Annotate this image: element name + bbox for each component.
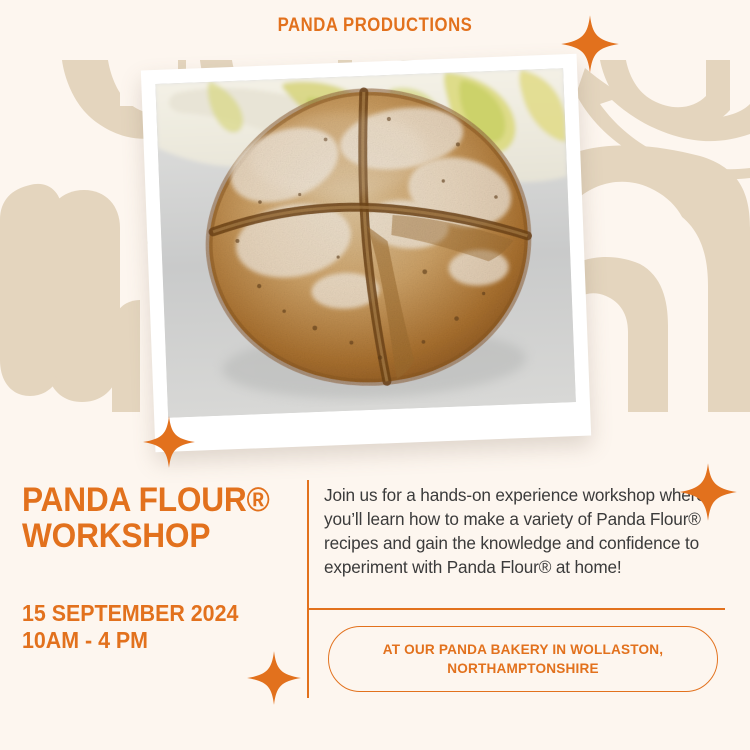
- page-title: PANDA PRODUCTIONS: [45, 15, 705, 37]
- sparkle-icon: [142, 415, 196, 469]
- headline: PANDA FLOUR® WORKSHOP: [22, 482, 273, 554]
- sparkle-icon: [678, 462, 738, 522]
- event-datetime: 15 SEPTEMBER 2024 10AM - 4 PM: [22, 600, 292, 654]
- sparkle-icon: [246, 650, 302, 706]
- event-date: 15 SEPTEMBER 2024: [22, 600, 292, 627]
- location-badge[interactable]: AT OUR PANDA BAKERY IN WOLLASTON, NORTHA…: [328, 626, 718, 692]
- horizontal-divider: [307, 608, 725, 610]
- description-text: Join us for a hands-on experience worksh…: [324, 484, 716, 580]
- polaroid-photo-frame: [141, 54, 591, 452]
- poster-canvas: PANDA PRODUCTIONS: [0, 0, 750, 750]
- vertical-divider: [307, 480, 309, 698]
- bread-photo: [155, 68, 576, 417]
